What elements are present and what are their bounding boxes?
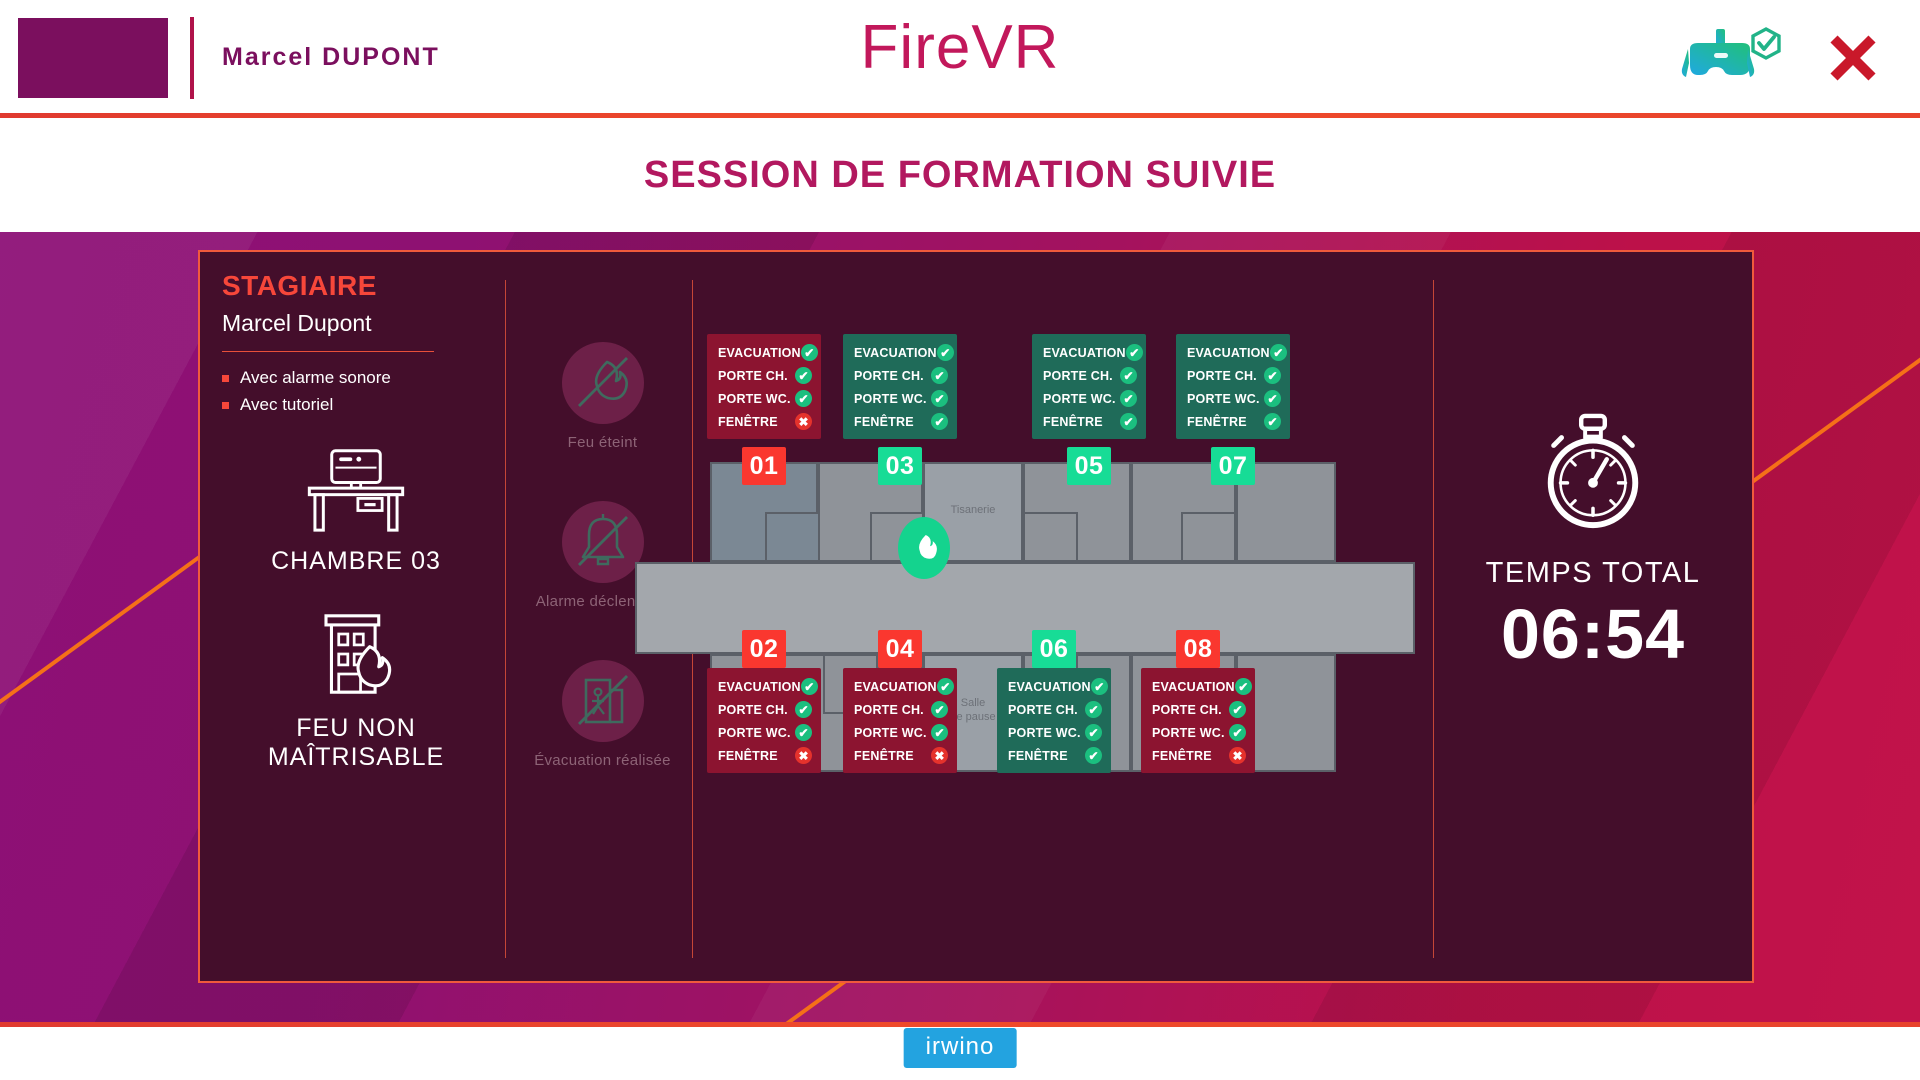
check-label: PORTE CH. bbox=[1187, 369, 1257, 383]
check-label: PORTE CH. bbox=[1152, 703, 1222, 717]
status-badge: ✔ bbox=[937, 678, 954, 695]
check-label: EVACUATION bbox=[718, 346, 801, 360]
check-label: EVACUATION bbox=[1187, 346, 1270, 360]
status-badge: ✔ bbox=[1270, 344, 1287, 361]
status-badge: ✔ bbox=[795, 701, 812, 718]
status-badge: ✔ bbox=[931, 701, 948, 718]
floorplan-area: Tisanerie Salle de pause bbox=[700, 272, 1425, 962]
room-tag-05[interactable]: 05 bbox=[1067, 447, 1111, 485]
room-card-03[interactable]: EVACUATION✔ PORTE CH.✔ PORTE WC.✔ FENÊTR… bbox=[843, 334, 957, 439]
status-badge: ✔ bbox=[1229, 724, 1246, 741]
status-badge: ✔ bbox=[1120, 413, 1137, 430]
check-label: FENÊTRE bbox=[1043, 415, 1103, 429]
status-badge: ✔ bbox=[801, 344, 818, 361]
total-time-value: 06:54 bbox=[1448, 594, 1738, 674]
check-label: FENÊTRE bbox=[1187, 415, 1247, 429]
table-row: PORTE WC.✔ bbox=[854, 724, 948, 741]
status-badge: ✔ bbox=[1085, 724, 1102, 741]
trainee-column: STAGIAIRE Marcel Dupont Avec alarme sono… bbox=[222, 270, 490, 772]
table-row: PORTE CH.✔ bbox=[1152, 701, 1246, 718]
trainee-options-list: Avec alarme sonore Avec tutoriel bbox=[222, 368, 490, 415]
status-badge: ✔ bbox=[1126, 344, 1143, 361]
table-row: EVACUATION✔ bbox=[718, 678, 812, 695]
check-label: PORTE WC. bbox=[1043, 392, 1116, 406]
total-time-label: TEMPS TOTAL bbox=[1448, 557, 1738, 590]
status-badge: ✔ bbox=[1091, 678, 1108, 695]
total-time-block: TEMPS TOTAL 06:54 bbox=[1448, 412, 1738, 674]
status-badge: ✔ bbox=[1264, 413, 1281, 430]
room-card-06[interactable]: EVACUATION✔ PORTE CH.✔ PORTE WC.✔ FENÊTR… bbox=[997, 668, 1111, 773]
status-badge: ✔ bbox=[1120, 390, 1137, 407]
status-badge: ✔ bbox=[931, 724, 948, 741]
room-tag-02[interactable]: 02 bbox=[742, 630, 786, 668]
status-badge: ✖ bbox=[795, 747, 812, 764]
evacuation-exit-disabled-icon bbox=[562, 660, 644, 742]
trainee-location-block: CHAMBRE 03 bbox=[222, 445, 490, 576]
room-card-08[interactable]: EVACUATION✔ PORTE CH.✔ PORTE WC.✔ FENÊTR… bbox=[1141, 668, 1255, 773]
table-row: PORTE WC.✔ bbox=[1187, 390, 1281, 407]
table-row: PORTE WC.✔ bbox=[1152, 724, 1246, 741]
table-row: PORTE WC.✔ bbox=[1043, 390, 1137, 407]
check-label: EVACUATION bbox=[854, 680, 937, 694]
fire-extinguished-disabled-icon bbox=[562, 342, 644, 424]
room-tag-01[interactable]: 01 bbox=[742, 447, 786, 485]
status-item-evacuation: Évacuation réalisée bbox=[530, 660, 675, 769]
status-badge: ✔ bbox=[801, 678, 818, 695]
building-fire-icon bbox=[222, 606, 490, 702]
app-header: Marcel DUPONT FireVR bbox=[0, 0, 1920, 115]
table-row: PORTE CH.✔ bbox=[854, 701, 948, 718]
room-card-07[interactable]: EVACUATION✔ PORTE CH.✔ PORTE WC.✔ FENÊTR… bbox=[1176, 334, 1290, 439]
table-row: PORTE CH.✔ bbox=[718, 701, 812, 718]
table-row: FENÊTRE✖ bbox=[854, 747, 948, 764]
status-badge: ✖ bbox=[931, 747, 948, 764]
check-label: PORTE CH. bbox=[1008, 703, 1078, 717]
room-card-01[interactable]: EVACUATION✔ PORTE CH.✔ PORTE WC.✔ FENÊTR… bbox=[707, 334, 821, 439]
table-row: FENÊTRE✖ bbox=[718, 413, 812, 430]
table-row: PORTE WC.✔ bbox=[1008, 724, 1102, 741]
alarm-bell-disabled-icon bbox=[562, 501, 644, 583]
status-label: Feu éteint bbox=[530, 434, 675, 451]
room-card-04[interactable]: EVACUATION✔ PORTE CH.✔ PORTE WC.✔ FENÊTR… bbox=[843, 668, 957, 773]
room-card-05[interactable]: EVACUATION✔ PORTE CH.✔ PORTE WC.✔ FENÊTR… bbox=[1032, 334, 1146, 439]
list-item: Avec alarme sonore bbox=[222, 368, 490, 388]
desk-computer-icon bbox=[222, 445, 490, 535]
panel-separator bbox=[505, 280, 506, 958]
trainee-divider bbox=[222, 351, 434, 352]
check-label: EVACUATION bbox=[1043, 346, 1126, 360]
plan-room bbox=[1181, 512, 1236, 562]
trainee-name: Marcel Dupont bbox=[222, 310, 490, 337]
room-tag-06[interactable]: 06 bbox=[1032, 630, 1076, 668]
check-label: FENÊTRE bbox=[718, 749, 778, 763]
session-subtitle: SESSION DE FORMATION SUIVIE bbox=[644, 154, 1276, 197]
check-label: EVACUATION bbox=[854, 346, 937, 360]
table-row: PORTE WC.✔ bbox=[718, 724, 812, 741]
check-label: PORTE CH. bbox=[718, 369, 788, 383]
status-badge: ✔ bbox=[795, 724, 812, 741]
fire-severity-block: FEU NON MAÎTRISABLE bbox=[222, 606, 490, 772]
plan-room-label: Tisanerie bbox=[925, 504, 1021, 516]
check-label: FENÊTRE bbox=[1008, 749, 1068, 763]
table-row: FENÊTRE✖ bbox=[718, 747, 812, 764]
table-row: EVACUATION✔ bbox=[1152, 678, 1246, 695]
list-item: Avec tutoriel bbox=[222, 395, 490, 415]
panel-separator bbox=[1433, 280, 1434, 958]
check-label: EVACUATION bbox=[718, 680, 801, 694]
status-badge: ✔ bbox=[1229, 701, 1246, 718]
table-row: PORTE CH.✔ bbox=[718, 367, 812, 384]
status-badge: ✔ bbox=[1264, 390, 1281, 407]
status-badge: ✔ bbox=[1264, 367, 1281, 384]
plan-room bbox=[765, 512, 820, 562]
status-badge: ✔ bbox=[1120, 367, 1137, 384]
status-label: Évacuation réalisée bbox=[530, 752, 675, 769]
table-row: EVACUATION✔ bbox=[1187, 344, 1281, 361]
status-badge: ✔ bbox=[1085, 747, 1102, 764]
table-row: EVACUATION✔ bbox=[1043, 344, 1137, 361]
check-label: EVACUATION bbox=[1152, 680, 1235, 694]
check-label: PORTE WC. bbox=[854, 392, 927, 406]
status-badge: ✔ bbox=[931, 413, 948, 430]
status-badge: ✖ bbox=[1229, 747, 1246, 764]
check-label: FENÊTRE bbox=[1152, 749, 1212, 763]
status-badge: ✔ bbox=[931, 390, 948, 407]
app-title: FireVR bbox=[0, 12, 1920, 83]
check-label: PORTE CH. bbox=[854, 369, 924, 383]
table-row: PORTE CH.✔ bbox=[1008, 701, 1102, 718]
table-row: PORTE WC.✔ bbox=[854, 390, 948, 407]
status-badge: ✔ bbox=[937, 344, 954, 361]
room-tag-04[interactable]: 04 bbox=[878, 630, 922, 668]
plan-room bbox=[1023, 512, 1078, 562]
table-row: EVACUATION✔ bbox=[854, 344, 948, 361]
room-card-02[interactable]: EVACUATION✔ PORTE CH.✔ PORTE WC.✔ FENÊTR… bbox=[707, 668, 821, 773]
check-label: FENÊTRE bbox=[854, 415, 914, 429]
check-label: PORTE CH. bbox=[718, 703, 788, 717]
close-icon[interactable] bbox=[1826, 31, 1880, 85]
footer-rule bbox=[0, 1022, 1920, 1027]
trainee-location-label: CHAMBRE 03 bbox=[222, 547, 490, 576]
session-subtitle-band: SESSION DE FORMATION SUIVIE bbox=[0, 118, 1920, 232]
footer-logo[interactable]: irwino bbox=[904, 1028, 1017, 1068]
status-badge: ✔ bbox=[1085, 701, 1102, 718]
fire-severity-label: FEU NON MAÎTRISABLE bbox=[222, 714, 490, 772]
check-label: FENÊTRE bbox=[854, 749, 914, 763]
stopwatch-icon bbox=[1534, 521, 1652, 538]
table-row: PORTE CH.✔ bbox=[854, 367, 948, 384]
table-row: EVACUATION✔ bbox=[854, 678, 948, 695]
check-label: PORTE WC. bbox=[718, 726, 791, 740]
check-label: PORTE WC. bbox=[1152, 726, 1225, 740]
table-row: EVACUATION✔ bbox=[718, 344, 812, 361]
vr-headset-check-icon[interactable] bbox=[1678, 23, 1786, 93]
status-item-feu-eteint: Feu éteint bbox=[530, 342, 675, 451]
table-row: FENÊTRE✔ bbox=[1043, 413, 1137, 430]
check-label: PORTE CH. bbox=[854, 703, 924, 717]
check-label: EVACUATION bbox=[1008, 680, 1091, 694]
check-label: PORTE WC. bbox=[1008, 726, 1081, 740]
app-footer: irwino bbox=[0, 1022, 1920, 1080]
status-badge: ✔ bbox=[795, 390, 812, 407]
check-label: FENÊTRE bbox=[718, 415, 778, 429]
table-row: EVACUATION✔ bbox=[1008, 678, 1102, 695]
table-row: PORTE CH.✔ bbox=[1043, 367, 1137, 384]
flame-marker-icon[interactable] bbox=[898, 517, 950, 579]
table-row: FENÊTRE✔ bbox=[854, 413, 948, 430]
status-badge: ✖ bbox=[795, 413, 812, 430]
trainee-heading: STAGIAIRE bbox=[222, 270, 490, 302]
room-tag-08[interactable]: 08 bbox=[1176, 630, 1220, 668]
status-badge: ✔ bbox=[795, 367, 812, 384]
room-tag-07[interactable]: 07 bbox=[1211, 447, 1255, 485]
table-row: PORTE WC.✔ bbox=[718, 390, 812, 407]
table-row: FENÊTRE✔ bbox=[1187, 413, 1281, 430]
check-label: PORTE WC. bbox=[854, 726, 927, 740]
room-tag-03[interactable]: 03 bbox=[878, 447, 922, 485]
header-actions bbox=[1678, 0, 1920, 115]
table-row: PORTE CH.✔ bbox=[1187, 367, 1281, 384]
table-row: FENÊTRE✔ bbox=[1008, 747, 1102, 764]
status-badge: ✔ bbox=[931, 367, 948, 384]
table-row: FENÊTRE✖ bbox=[1152, 747, 1246, 764]
status-badge: ✔ bbox=[1235, 678, 1252, 695]
check-label: PORTE WC. bbox=[718, 392, 791, 406]
check-label: PORTE CH. bbox=[1043, 369, 1113, 383]
session-report-panel: STAGIAIRE Marcel Dupont Avec alarme sono… bbox=[198, 250, 1754, 983]
check-label: PORTE WC. bbox=[1187, 392, 1260, 406]
